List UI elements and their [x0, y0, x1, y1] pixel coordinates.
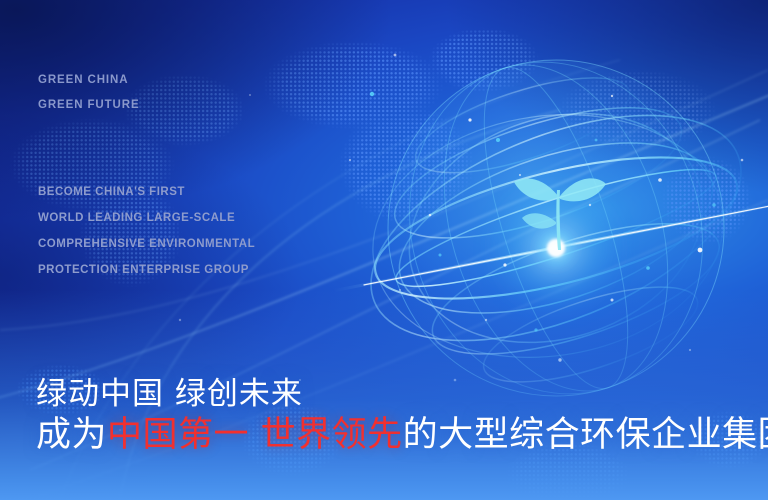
- mission-line-2: WORLD LEADING LARGE-SCALE: [38, 212, 235, 224]
- headline-accent: 中国第一 世界领先: [107, 415, 403, 455]
- tagline-line-1: GREEN CHINA: [38, 74, 128, 86]
- headline-prefix: 成为: [36, 415, 107, 455]
- mission-line-3: COMPREHENSIVE ENVIRONMENTAL: [38, 238, 255, 250]
- tagline-line-2: GREEN FUTURE: [38, 99, 140, 111]
- hero-banner: GREEN CHINA GREEN FUTURE BECOME CHINA'S …: [0, 0, 768, 500]
- mission-line-4: PROTECTION ENTERPRISE GROUP: [38, 264, 249, 276]
- headline-suffix: 的大型综合环保企业集团: [403, 415, 768, 455]
- mission-line-1: BECOME CHINA'S FIRST: [38, 186, 185, 198]
- headline-line-2: 成为中国第一 世界领先的大型综合环保企业集团: [36, 406, 768, 457]
